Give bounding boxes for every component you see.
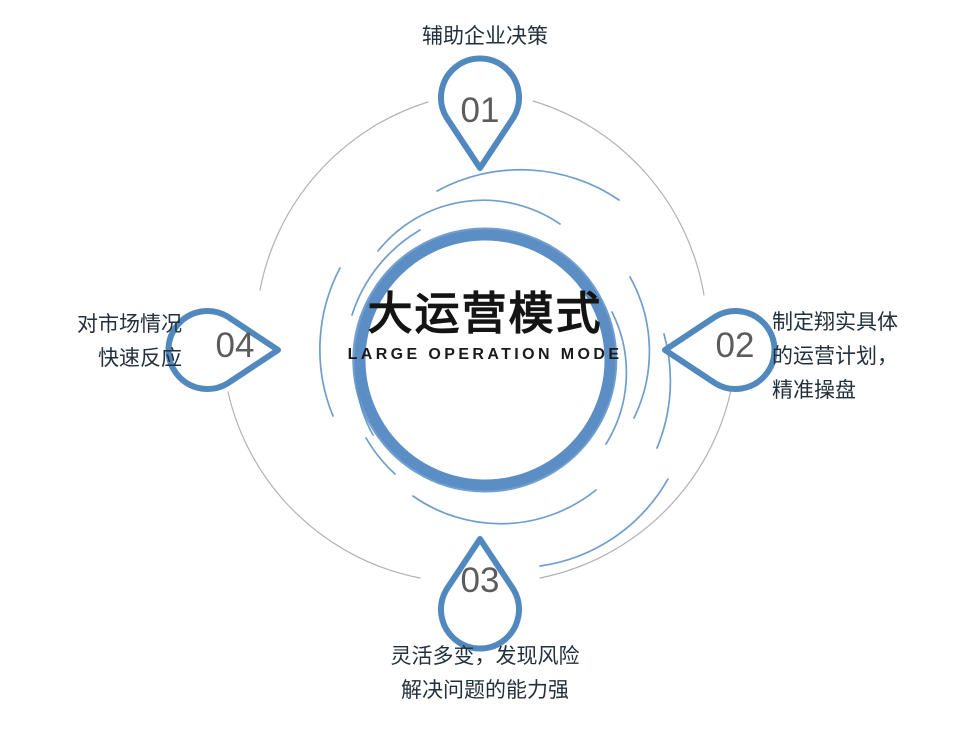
outer-guide-circle — [228, 101, 731, 578]
decorative-arc-8 — [413, 490, 596, 524]
callout-label-04: 对市场情况 快速反应 — [0, 308, 182, 376]
callout-01-line-1: 辅助企业决策 — [0, 20, 970, 54]
callout-label-02: 制定翔实具体 的运营计划， 精准操盘 — [772, 306, 898, 408]
decorative-arc-4 — [540, 479, 668, 566]
callout-label-03: 灵活多变，发现风险 解决问题的能力强 — [0, 640, 970, 708]
callout-02-line-2: 的运营计划， — [772, 340, 898, 374]
guide-arc-left-bottom — [228, 392, 420, 578]
guide-arc-top-right — [533, 101, 704, 295]
main-ring — [360, 235, 610, 485]
marker-04-shape[interactable] — [168, 311, 278, 389]
decorative-arc-2 — [320, 268, 340, 416]
guide-arc-right-bottom — [540, 390, 731, 578]
marker-03[interactable] — [441, 539, 519, 649]
callout-02-line-3: 精准操盘 — [772, 374, 898, 408]
callout-03-line-1: 灵活多变，发现风险 — [0, 640, 970, 674]
callout-02-line-1: 制定翔实具体 — [772, 306, 898, 340]
callout-04-line-1: 对市场情况 — [0, 308, 182, 342]
callout-03-line-2: 解决问题的能力强 — [0, 674, 970, 708]
marker-02[interactable] — [665, 311, 775, 389]
decorative-arc-7 — [630, 277, 649, 418]
callout-label-01: 辅助企业决策 — [0, 20, 970, 54]
diagram-canvas: 大运营模式 LARGE OPERATION MODE 01 02 03 04 辅… — [0, 0, 970, 733]
main-ring-accent — [354, 229, 616, 491]
marker-04[interactable] — [168, 311, 278, 389]
decorative-arc-1 — [437, 170, 619, 200]
marker-02-shape[interactable] — [665, 311, 775, 389]
marker-01[interactable] — [441, 58, 519, 168]
marker-03-shape[interactable] — [441, 539, 519, 649]
callout-04-line-2: 快速反应 — [0, 342, 182, 376]
marker-01-shape[interactable] — [441, 58, 519, 168]
